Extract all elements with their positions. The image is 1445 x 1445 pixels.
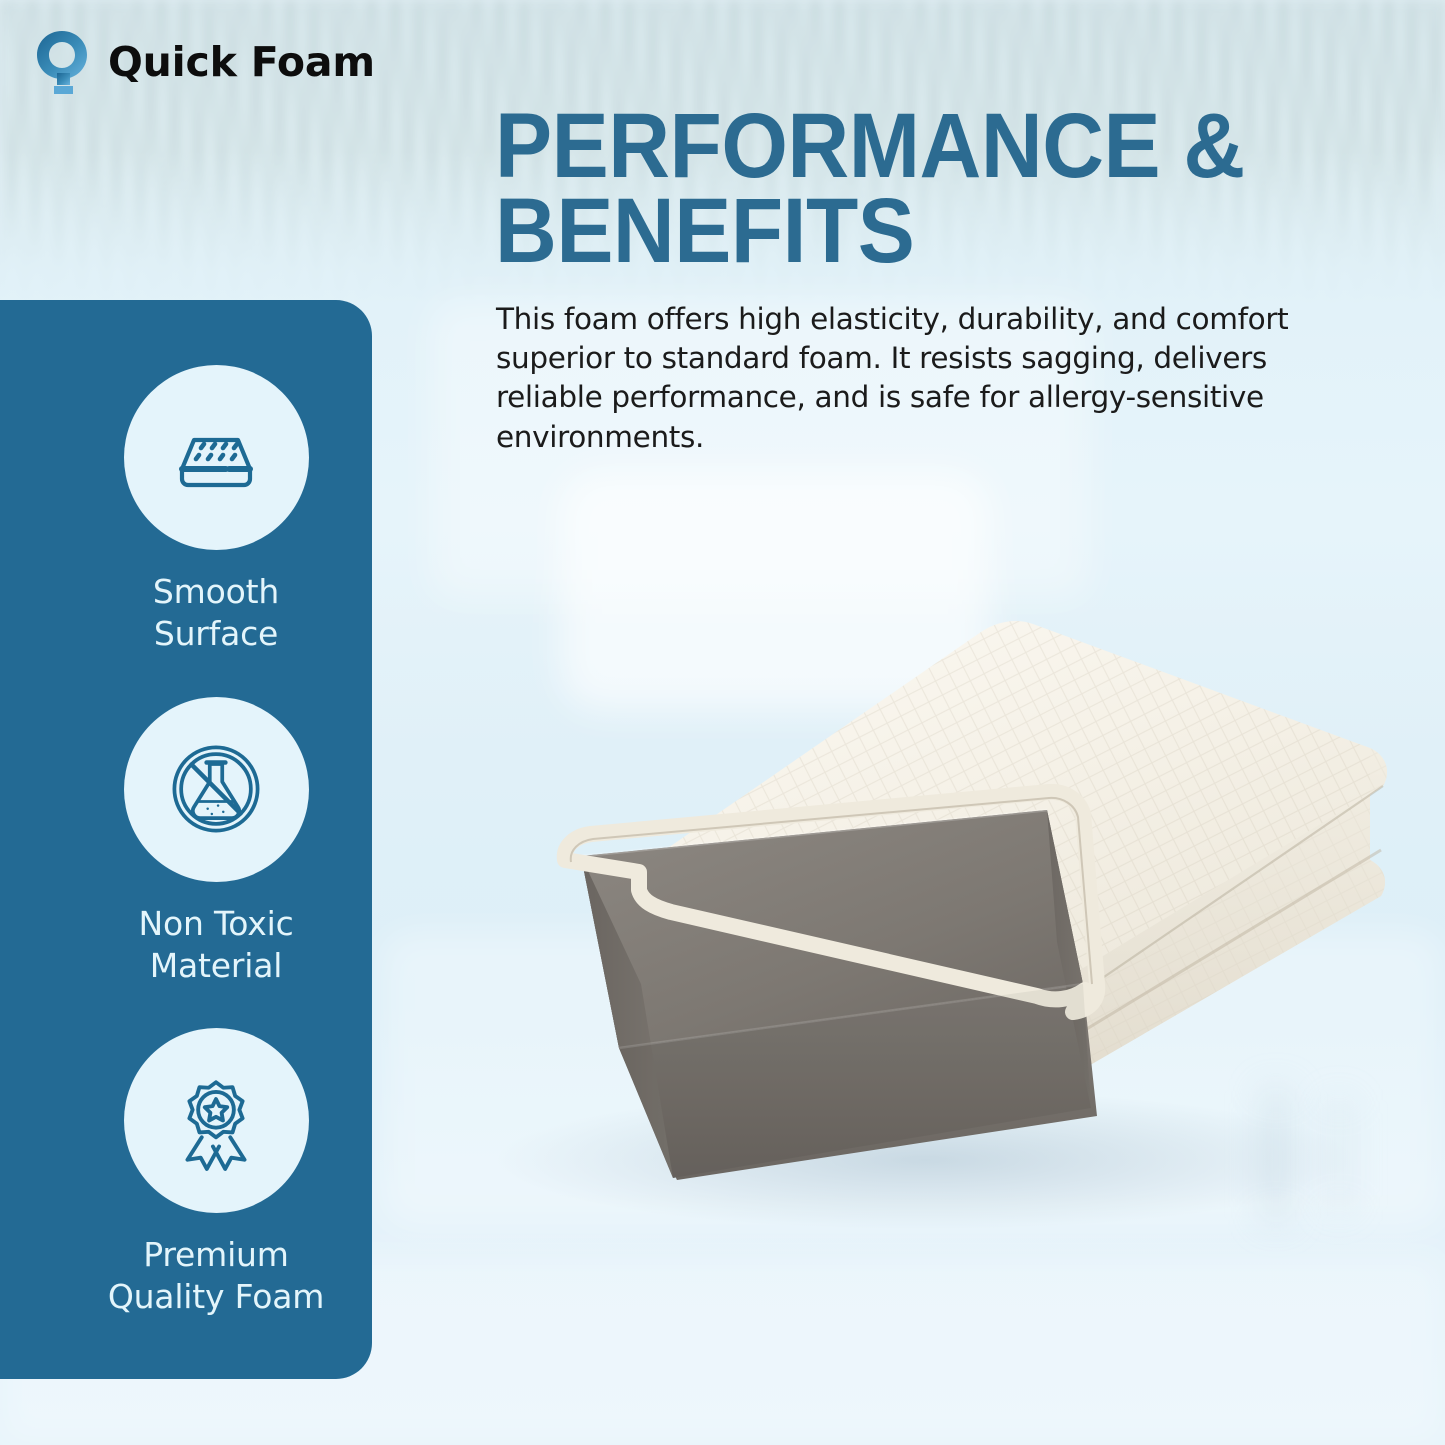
- brand-name: Quick Foam: [108, 42, 375, 83]
- feature-item-premium-quality-foam[interactable]: Premium Quality Foam: [0, 1007, 372, 1339]
- feature-label: Premium Quality Foam: [108, 1234, 324, 1318]
- no-chemicals-flask-icon: [164, 737, 268, 841]
- feature-item-non-toxic-material[interactable]: Non Toxic Material: [0, 676, 372, 1008]
- feature-icon-badge: [124, 365, 309, 550]
- quick-foam-q-mark-icon: [32, 28, 94, 96]
- brand-logo[interactable]: Quick Foam: [32, 28, 375, 96]
- page-title: PERFORMANCE & BENEFITS: [495, 104, 1267, 273]
- mattress-icon: [166, 407, 266, 507]
- award-ribbon-star-icon: [165, 1070, 267, 1172]
- feature-label: Smooth Surface: [153, 571, 279, 655]
- page-title-line-2: BENEFITS: [495, 189, 1267, 274]
- intro-paragraph: This foam offers high elasticity, durabi…: [496, 300, 1314, 457]
- feature-icon-badge: [124, 1028, 309, 1213]
- feature-label: Non Toxic Material: [138, 903, 293, 987]
- feature-icon-badge: [124, 697, 309, 882]
- foam-mattress-photo: [385, 560, 1445, 1240]
- feature-item-smooth-surface[interactable]: Smooth Surface: [0, 344, 372, 676]
- features-panel: Smooth Surface Non Toxic Material: [0, 300, 372, 1379]
